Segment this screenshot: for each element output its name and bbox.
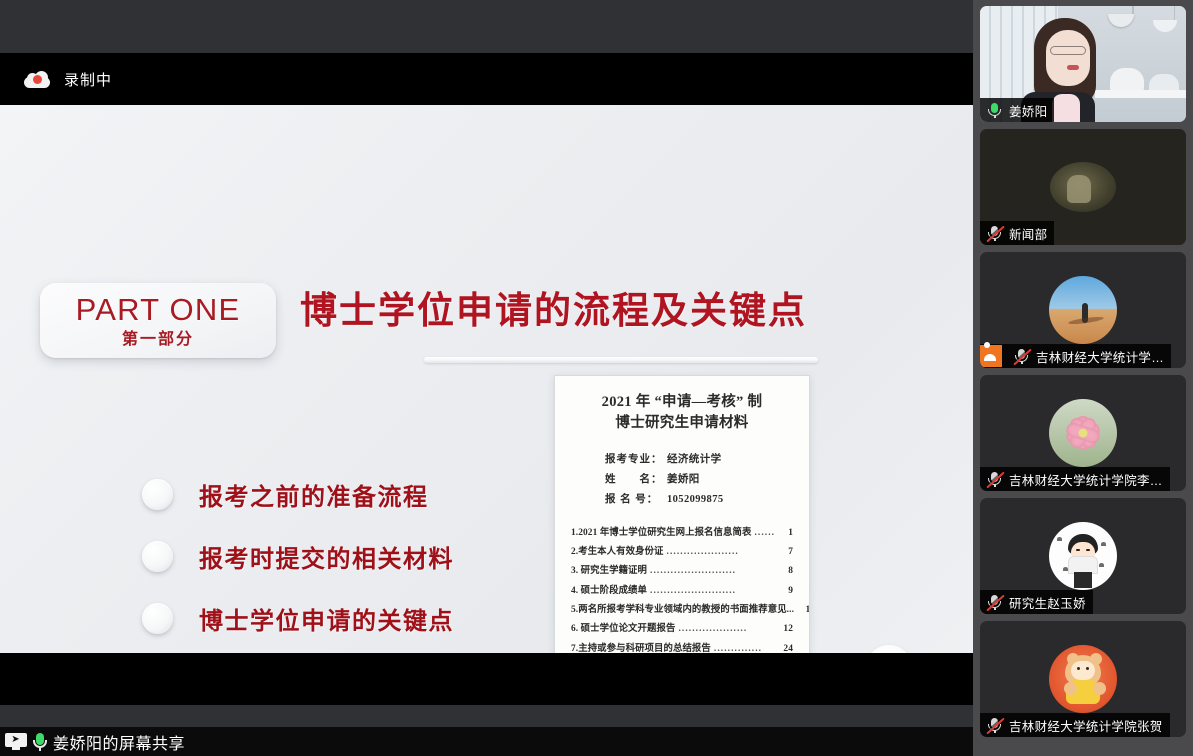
toc-label: 1.2021 年博士学位研究生网上报名信息简表 [571, 524, 751, 543]
participant-namebar: 研究生赵玉娇 [980, 590, 1093, 614]
doc-meta-value: 1052099875 [667, 490, 724, 510]
bullet-circle-icon [142, 603, 173, 634]
participant-name: 吉林财经大学统计学院李… [1009, 470, 1163, 489]
toc-label: 2.考生本人有效身份证 [571, 543, 664, 562]
decorative-circle-icon [866, 645, 912, 653]
toc-page: 8 [778, 562, 793, 581]
participant-name: 姜娇阳 [1009, 101, 1047, 120]
scanned-document-image: 2021 年 “申请—考核” 制 博士研究生申请材料 报考专业： 经济统计学 姓… [554, 375, 810, 653]
doc-meta-row: 报考专业： 经济统计学 [605, 450, 793, 470]
toc-label: 6. 硕士学位论文开题报告 [571, 620, 675, 639]
part-badge: PART ONE 第一部分 [40, 283, 276, 358]
participant-namebar: 吉林财经大学统计学院张贺 [980, 713, 1170, 737]
participant-name: 研究生赵玉娇 [1009, 593, 1086, 612]
toc-page: 24 [778, 640, 793, 653]
microphone-muted-icon[interactable] [1012, 347, 1031, 366]
toc-leader: .............. [714, 640, 775, 653]
doc-meta-label: 报 名 号： [605, 490, 667, 510]
screen-share-icon: ➤ [5, 733, 27, 751]
participant-tile-active-speaker[interactable]: 姜娇阳 [980, 6, 1186, 122]
toc-row: 2.考生本人有效身份证 ..................... 7 [571, 543, 793, 562]
participant-tile[interactable]: 吉林财经大学统计学院张贺 [980, 621, 1186, 737]
doc-meta-value: 姜娇阳 [667, 470, 700, 490]
toc-label: 4. 硕士阶段成绩单 [571, 582, 647, 601]
participant-name: 新闻部 [1009, 224, 1047, 243]
host-badge-icon [980, 345, 1002, 367]
recording-label: 录制中 [64, 69, 112, 90]
microphone-on-icon [32, 732, 48, 752]
presentation-slide: PART ONE 第一部分 博士学位申请的流程及关键点 报考之前的准备流程 报考… [0, 105, 973, 653]
microphone-muted-icon[interactable] [985, 224, 1004, 243]
toc-leader: .................... [678, 620, 775, 639]
slide-bullet-list: 报考之前的准备流程 报考时提交的相关材料 博士学位申请的关键点 [142, 463, 454, 649]
toc-row: 6. 硕士学位论文开题报告 .................... 12 [571, 620, 793, 639]
shared-screen-region: 录制中 PART ONE 第一部分 博士学位申请的流程及关键点 报考之前的准备流… [0, 0, 973, 756]
avatar [1049, 276, 1117, 344]
microphone-muted-icon[interactable] [985, 593, 1004, 612]
bottom-letterbox-band [0, 653, 973, 705]
participant-namebar: 吉林财经大学统计学… [980, 344, 1171, 368]
participant-tile[interactable]: 吉林财经大学统计学… [980, 252, 1186, 368]
list-item: 报考时提交的相关材料 [142, 525, 454, 587]
toc-page: 12 [778, 620, 793, 639]
participant-tile[interactable]: 新闻部 [980, 129, 1186, 245]
participant-name: 吉林财经大学统计学… [1036, 347, 1164, 366]
avatar [1049, 645, 1117, 713]
recording-indicator-bar: 录制中 [0, 53, 973, 105]
toc-page: 10 [800, 601, 810, 620]
participant-namebar: 姜娇阳 [980, 98, 1054, 122]
toc-label: 3. 研究生学籍证明 [571, 562, 647, 581]
participant-namebar: 新闻部 [980, 221, 1054, 245]
participant-namebar: 吉林财经大学统计学院李… [980, 467, 1170, 491]
toc-leader: ......................... [650, 562, 775, 581]
participant-tile[interactable]: 研究生赵玉娇 [980, 498, 1186, 614]
doc-meta-label: 姓 名： [605, 470, 667, 490]
bullet-circle-icon [142, 479, 173, 510]
meeting-window: 录制中 PART ONE 第一部分 博士学位申请的流程及关键点 报考之前的准备流… [0, 0, 1193, 756]
participant-tile[interactable]: 吉林财经大学统计学院李… [980, 375, 1186, 491]
list-item: 博士学位申请的关键点 [142, 587, 454, 649]
bullet-label: 报考时提交的相关材料 [199, 539, 454, 574]
toc-page: 9 [778, 582, 793, 601]
participant-strip[interactable]: 姜娇阳 新闻部 [973, 0, 1193, 756]
doc-meta-row: 姓 名： 姜娇阳 [605, 470, 793, 490]
toc-label: 7.主持或参与科研项目的总结报告 [571, 640, 711, 653]
avatar [1049, 522, 1117, 590]
doc-table-of-contents: 1.2021 年博士学位研究生网上报名信息简表 .......... 1 2.考… [571, 524, 793, 653]
title-underline-rule [424, 357, 818, 363]
toc-leader: ......................... [650, 582, 775, 601]
toc-row: 1.2021 年博士学位研究生网上报名信息简表 .......... 1 [571, 524, 793, 543]
bullet-label: 博士学位申请的关键点 [199, 601, 454, 636]
doc-meta-value: 经济统计学 [667, 450, 722, 470]
microphone-muted-icon[interactable] [985, 716, 1004, 735]
doc-meta-block: 报考专业： 经济统计学 姓 名： 姜娇阳 报 名 号： 1052099875 [571, 450, 793, 510]
top-letterbox-bar [0, 0, 973, 53]
toc-row: 3. 研究生学籍证明 ......................... 8 [571, 562, 793, 581]
doc-meta-label: 报考专业： [605, 450, 667, 470]
cloud-record-icon [24, 71, 50, 88]
screen-share-label: 姜娇阳的屏幕共享 [53, 730, 185, 754]
toc-leader: .......... [754, 524, 775, 543]
list-item: 报考之前的准备流程 [142, 463, 454, 525]
slide-title: 博士学位申请的流程及关键点 [300, 289, 807, 333]
toc-row: 7.主持或参与科研项目的总结报告 .............. 24 [571, 640, 793, 653]
doc-title-line-2: 博士研究生申请材料 [571, 413, 793, 434]
toc-label: 5.两名所报考学科专业领域内的教授的书面推荐意见... [571, 601, 794, 620]
bottom-gray-strip [0, 705, 973, 727]
toc-page: 1 [778, 524, 793, 543]
toc-leader: ..................... [667, 543, 775, 562]
part-badge-en: PART ONE [76, 294, 241, 325]
doc-title-line-1: 2021 年 “申请—考核” 制 [571, 392, 793, 413]
toc-row: 5.两名所报考学科专业领域内的教授的书面推荐意见... 10 [571, 601, 793, 620]
toc-row: 4. 硕士阶段成绩单 ......................... 9 [571, 582, 793, 601]
microphone-on-icon[interactable] [985, 101, 1004, 120]
part-badge-zh: 第一部分 [122, 332, 194, 348]
doc-meta-row: 报 名 号： 1052099875 [605, 490, 793, 510]
microphone-muted-icon[interactable] [985, 470, 1004, 489]
bullet-circle-icon [142, 541, 173, 572]
bullet-label: 报考之前的准备流程 [199, 477, 429, 512]
toc-page: 7 [778, 543, 793, 562]
avatar [1049, 399, 1117, 467]
participant-name: 吉林财经大学统计学院张贺 [1009, 716, 1163, 735]
